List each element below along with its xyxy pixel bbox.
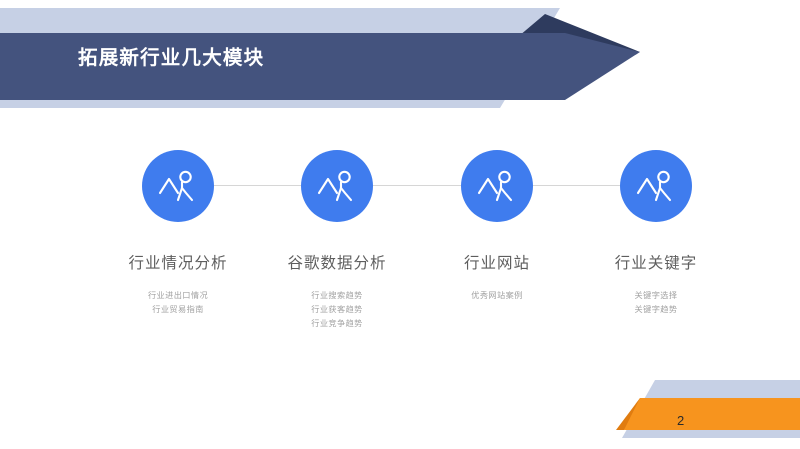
step-icon-circle-3[interactable] <box>461 150 533 222</box>
footer-orange-band <box>624 398 800 430</box>
footer-banner-shape <box>600 368 800 449</box>
image-landscape-icon <box>158 169 198 203</box>
step-sub-item: 行业竞争趋势 <box>237 317 437 331</box>
step-sub-item: 关键字选择 <box>556 289 756 303</box>
page-title: 拓展新行业几大模块 <box>78 46 264 70</box>
step-item-4[interactable]: 行业关键字 关键字选择 关键字趋势 <box>556 140 756 317</box>
footer-page-banner: 2 <box>600 368 800 449</box>
image-landscape-icon <box>317 169 357 203</box>
image-landscape-icon <box>477 169 517 203</box>
title-banner: 拓展新行业几大模块 <box>0 0 800 120</box>
step-subs-4: 关键字选择 关键字趋势 <box>556 289 756 317</box>
step-sub-item: 关键字趋势 <box>556 303 756 317</box>
step-title-4: 行业关键字 <box>556 254 756 274</box>
slide-canvas: 拓展新行业几大模块 行业情况分析 行业进出口情况 行业贸易指南 <box>0 0 800 449</box>
step-icon-circle-2[interactable] <box>301 150 373 222</box>
step-sub-item: 行业获客趋势 <box>237 303 437 317</box>
image-landscape-icon <box>636 169 676 203</box>
steps-row: 行业情况分析 行业进出口情况 行业贸易指南 谷歌数据分析 <box>0 140 800 370</box>
step-icon-circle-1[interactable] <box>142 150 214 222</box>
step-icon-circle-4[interactable] <box>620 150 692 222</box>
page-number: 2 <box>677 414 684 427</box>
